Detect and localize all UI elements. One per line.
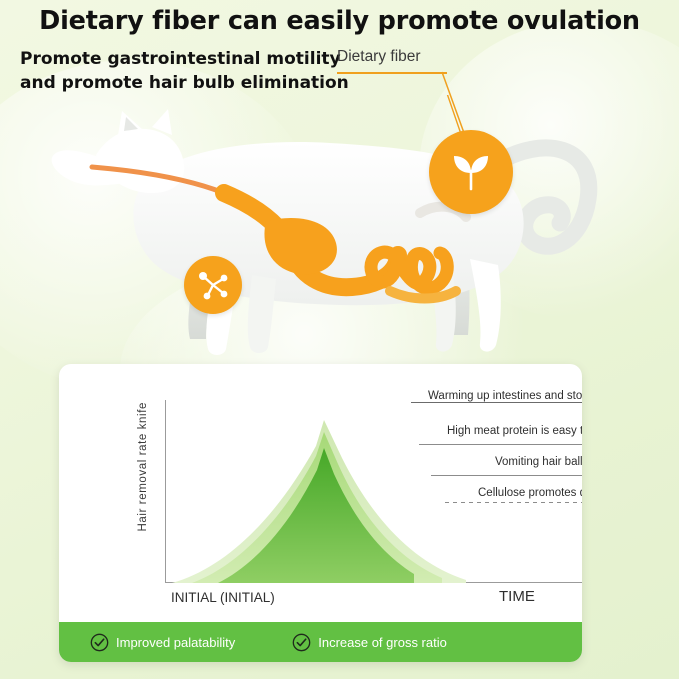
chart-annotation-3: Vomiting hair ball <box>495 456 582 468</box>
chart-annotation-1: Warming up intestines and stomach <box>428 390 582 402</box>
annotation-leader-line <box>411 402 582 403</box>
chart-plot-area: Hair removal rate knife <box>59 364 582 622</box>
annotation-leader-line <box>431 475 582 476</box>
check-circle-icon <box>292 633 311 652</box>
chart-annotation-2: High meat protein is easy to digest <box>447 425 582 437</box>
chart-annotation-4: Cellulose promotes digestion <box>478 487 582 499</box>
page-title: Dietary fiber can easily promote ovulati… <box>0 6 679 36</box>
chart-x-tick-time: TIME <box>499 588 535 605</box>
molecule-icon <box>196 268 230 302</box>
dietary-fiber-callout-label: Dietary fiber <box>337 48 421 66</box>
poster-root: Dietary fiber can easily promote ovulati… <box>0 0 679 679</box>
chart-x-tick-initial: INITIAL (INITIAL) <box>171 590 275 605</box>
chart-y-axis-label: Hair removal rate knife <box>137 402 155 531</box>
annotation-leader-line <box>419 444 582 445</box>
chart-card: Hair removal rate knife <box>59 364 582 662</box>
leaf-badge <box>429 130 513 214</box>
benefit-item-gross-ratio: Increase of gross ratio <box>292 633 447 652</box>
cat-illustration <box>0 95 679 370</box>
benefits-footer: Improved palatability Increase of gross … <box>59 622 582 662</box>
annotation-leader-line-dashed <box>445 502 582 503</box>
benefit-label: Improved palatability <box>116 635 235 650</box>
leaf-icon <box>448 149 494 195</box>
check-circle-icon <box>90 633 109 652</box>
benefit-label: Increase of gross ratio <box>318 635 447 650</box>
molecule-badge <box>184 256 242 314</box>
benefit-item-palatability: Improved palatability <box>90 633 235 652</box>
page-subtitle: Promote gastrointestinal motility and pr… <box>20 47 350 95</box>
